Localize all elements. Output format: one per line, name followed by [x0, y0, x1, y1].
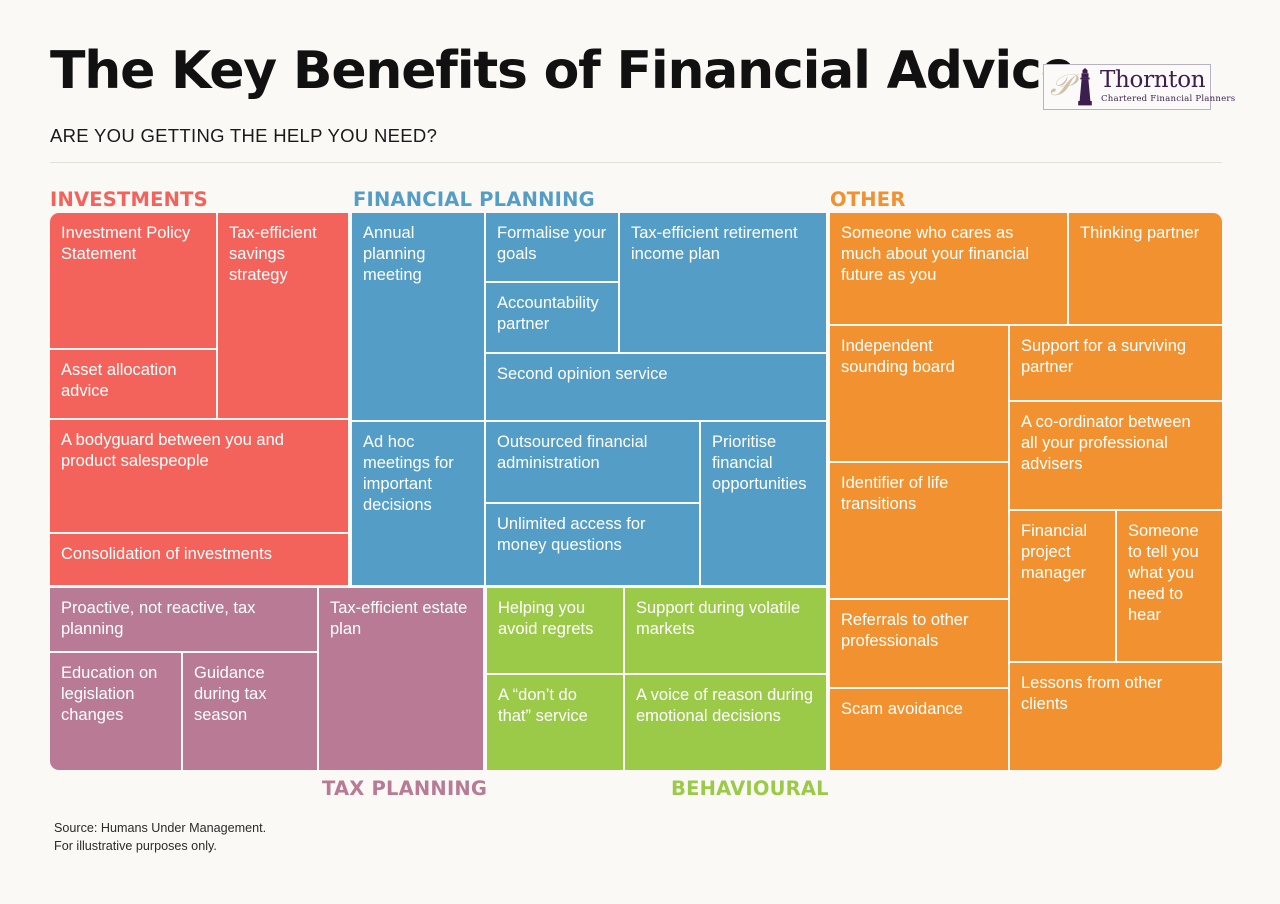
page-subtitle: ARE YOU GETTING THE HELP YOU NEED? — [50, 125, 1222, 147]
section-investments: Investment Policy Statement Tax-efficien… — [50, 213, 348, 585]
cell-lessons-from-other-clients[interactable]: Lessons from other clients — [1008, 661, 1222, 770]
cell-annual-planning-meeting[interactable]: Annual planning meeting — [352, 213, 484, 420]
source-line-2: For illustrative purposes only. — [54, 838, 266, 856]
section-heading-financial-planning: FINANCIAL PLANNING — [353, 188, 595, 211]
thornton-logo: 𝒫 Thornton Chartered Financial Planners — [1043, 64, 1211, 110]
cell-support-for-a-surviving-partner[interactable]: Support for a surviving partner — [1008, 324, 1222, 400]
section-behavioural: Helping you avoid regrets Support during… — [487, 588, 826, 770]
cell-investment-policy-statement[interactable]: Investment Policy Statement — [50, 213, 216, 348]
cell-tax-efficient-savings-strategy[interactable]: Tax-efficient savings strategy — [216, 213, 348, 418]
cell-a-voice-of-reason-during-emotional-decisions[interactable]: A voice of reason during emotional decis… — [623, 673, 826, 770]
cell-outsourced-financial-administration[interactable]: Outsourced financial administration — [484, 420, 699, 502]
cell-identifier-of-life-transitions[interactable]: Identifier of life transitions — [830, 461, 1008, 598]
cell-someone-who-cares-about-your-financial-future[interactable]: Someone who cares as much about your fin… — [830, 213, 1067, 324]
cell-independent-sounding-board[interactable]: Independent sounding board — [830, 324, 1008, 461]
lighthouse-icon — [1074, 68, 1096, 106]
cell-support-during-volatile-markets[interactable]: Support during volatile markets — [623, 588, 826, 673]
cell-second-opinion-service[interactable]: Second opinion service — [484, 352, 826, 420]
cell-someone-to-tell-you-what-you-need-to-hear[interactable]: Someone to tell you what you need to hea… — [1115, 509, 1222, 661]
cell-formalise-your-goals[interactable]: Formalise your goals — [484, 213, 618, 281]
cell-consolidation-of-investments[interactable]: Consolidation of investments — [50, 532, 348, 585]
cell-tax-efficient-retirement-income-plan[interactable]: Tax-efficient retirement income plan — [618, 213, 826, 352]
logo-tagline: Chartered Financial Planners — [1101, 94, 1235, 104]
section-heading-behavioural: BEHAVIOURAL — [671, 777, 829, 800]
cell-referrals-to-other-professionals[interactable]: Referrals to other professionals — [830, 598, 1008, 687]
cell-dont-do-that-service[interactable]: A “don’t do that” service — [487, 673, 623, 770]
cell-bodyguard-between-you-and-product-salespeople[interactable]: A bodyguard between you and product sale… — [50, 418, 348, 532]
section-heading-tax-planning: TAX PLANNING — [322, 777, 487, 800]
cell-prioritise-financial-opportunities[interactable]: Prioritise financial opportunities — [699, 420, 826, 585]
source-note: Source: Humans Under Management. For ill… — [54, 820, 266, 856]
cell-asset-allocation-advice[interactable]: Asset allocation advice — [50, 348, 216, 418]
section-financial-planning: Annual planning meeting Formalise your g… — [352, 213, 826, 585]
section-heading-investments: INVESTMENTS — [50, 188, 208, 211]
logo-swash-icon: 𝒫 — [1050, 71, 1072, 101]
cell-unlimited-access-for-money-questions[interactable]: Unlimited access for money questions — [484, 502, 699, 585]
cell-tax-efficient-estate-plan[interactable]: Tax-efficient estate plan — [317, 588, 483, 770]
cell-proactive-not-reactive-tax-planning[interactable]: Proactive, not reactive, tax planning — [50, 588, 317, 651]
cell-financial-project-manager[interactable]: Financial project manager — [1008, 509, 1115, 661]
header-divider — [50, 162, 1222, 163]
section-heading-other: OTHER — [830, 188, 906, 211]
cell-guidance-during-tax-season[interactable]: Guidance during tax season — [181, 651, 317, 770]
source-line-1: Source: Humans Under Management. — [54, 820, 266, 838]
cell-coordinator-between-all-your-professional-advisers[interactable]: A co-ordinator between all your professi… — [1008, 400, 1222, 509]
cell-thinking-partner[interactable]: Thinking partner — [1067, 213, 1222, 324]
logo-brand-name: Thornton — [1100, 68, 1205, 93]
cell-education-on-legislation-changes[interactable]: Education on legislation changes — [50, 651, 181, 770]
cell-accountability-partner[interactable]: Accountability partner — [484, 281, 618, 352]
section-tax-planning: Proactive, not reactive, tax planning Ta… — [50, 588, 483, 770]
cell-ad-hoc-meetings-for-important-decisions[interactable]: Ad hoc meetings for important decisions — [352, 420, 484, 585]
cell-scam-avoidance[interactable]: Scam avoidance — [830, 687, 1008, 770]
section-other: Someone who cares as much about your fin… — [830, 213, 1222, 770]
cell-helping-you-avoid-regrets[interactable]: Helping you avoid regrets — [487, 588, 623, 673]
